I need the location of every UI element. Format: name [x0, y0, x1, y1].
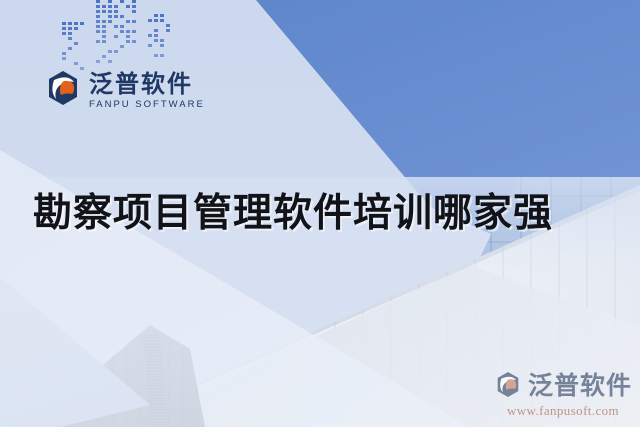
fanpu-logo-icon [44, 70, 82, 106]
watermark: 泛普软件 www.fanpusoft.com [494, 366, 632, 419]
banner-image: 泛普软件 FANPU SOFTWARE 勘察项目管理软件培训哪家强 泛普软件 w… [0, 0, 640, 427]
brand-name-cn: 泛普软件 [89, 72, 205, 97]
watermark-brand-row: 泛普软件 [494, 366, 632, 402]
watermark-url: www.fanpusoft.com [507, 403, 619, 419]
brand-logo-text: 泛普软件 FANPU SOFTWARE [89, 70, 205, 110]
page-title: 勘察项目管理软件培训哪家强 [33, 182, 553, 238]
brand-logo: 泛普软件 FANPU SOFTWARE [44, 70, 205, 110]
brand-name-en: FANPU SOFTWARE [89, 99, 205, 110]
pixel-skyline-decoration [56, 0, 186, 72]
pixel-skyline-column [96, 0, 138, 72]
watermark-brand-name: 泛普软件 [528, 366, 632, 402]
watermark-logo-icon [494, 371, 522, 398]
pixel-skyline-column [62, 22, 90, 72]
pixel-skyline-column [148, 14, 176, 72]
